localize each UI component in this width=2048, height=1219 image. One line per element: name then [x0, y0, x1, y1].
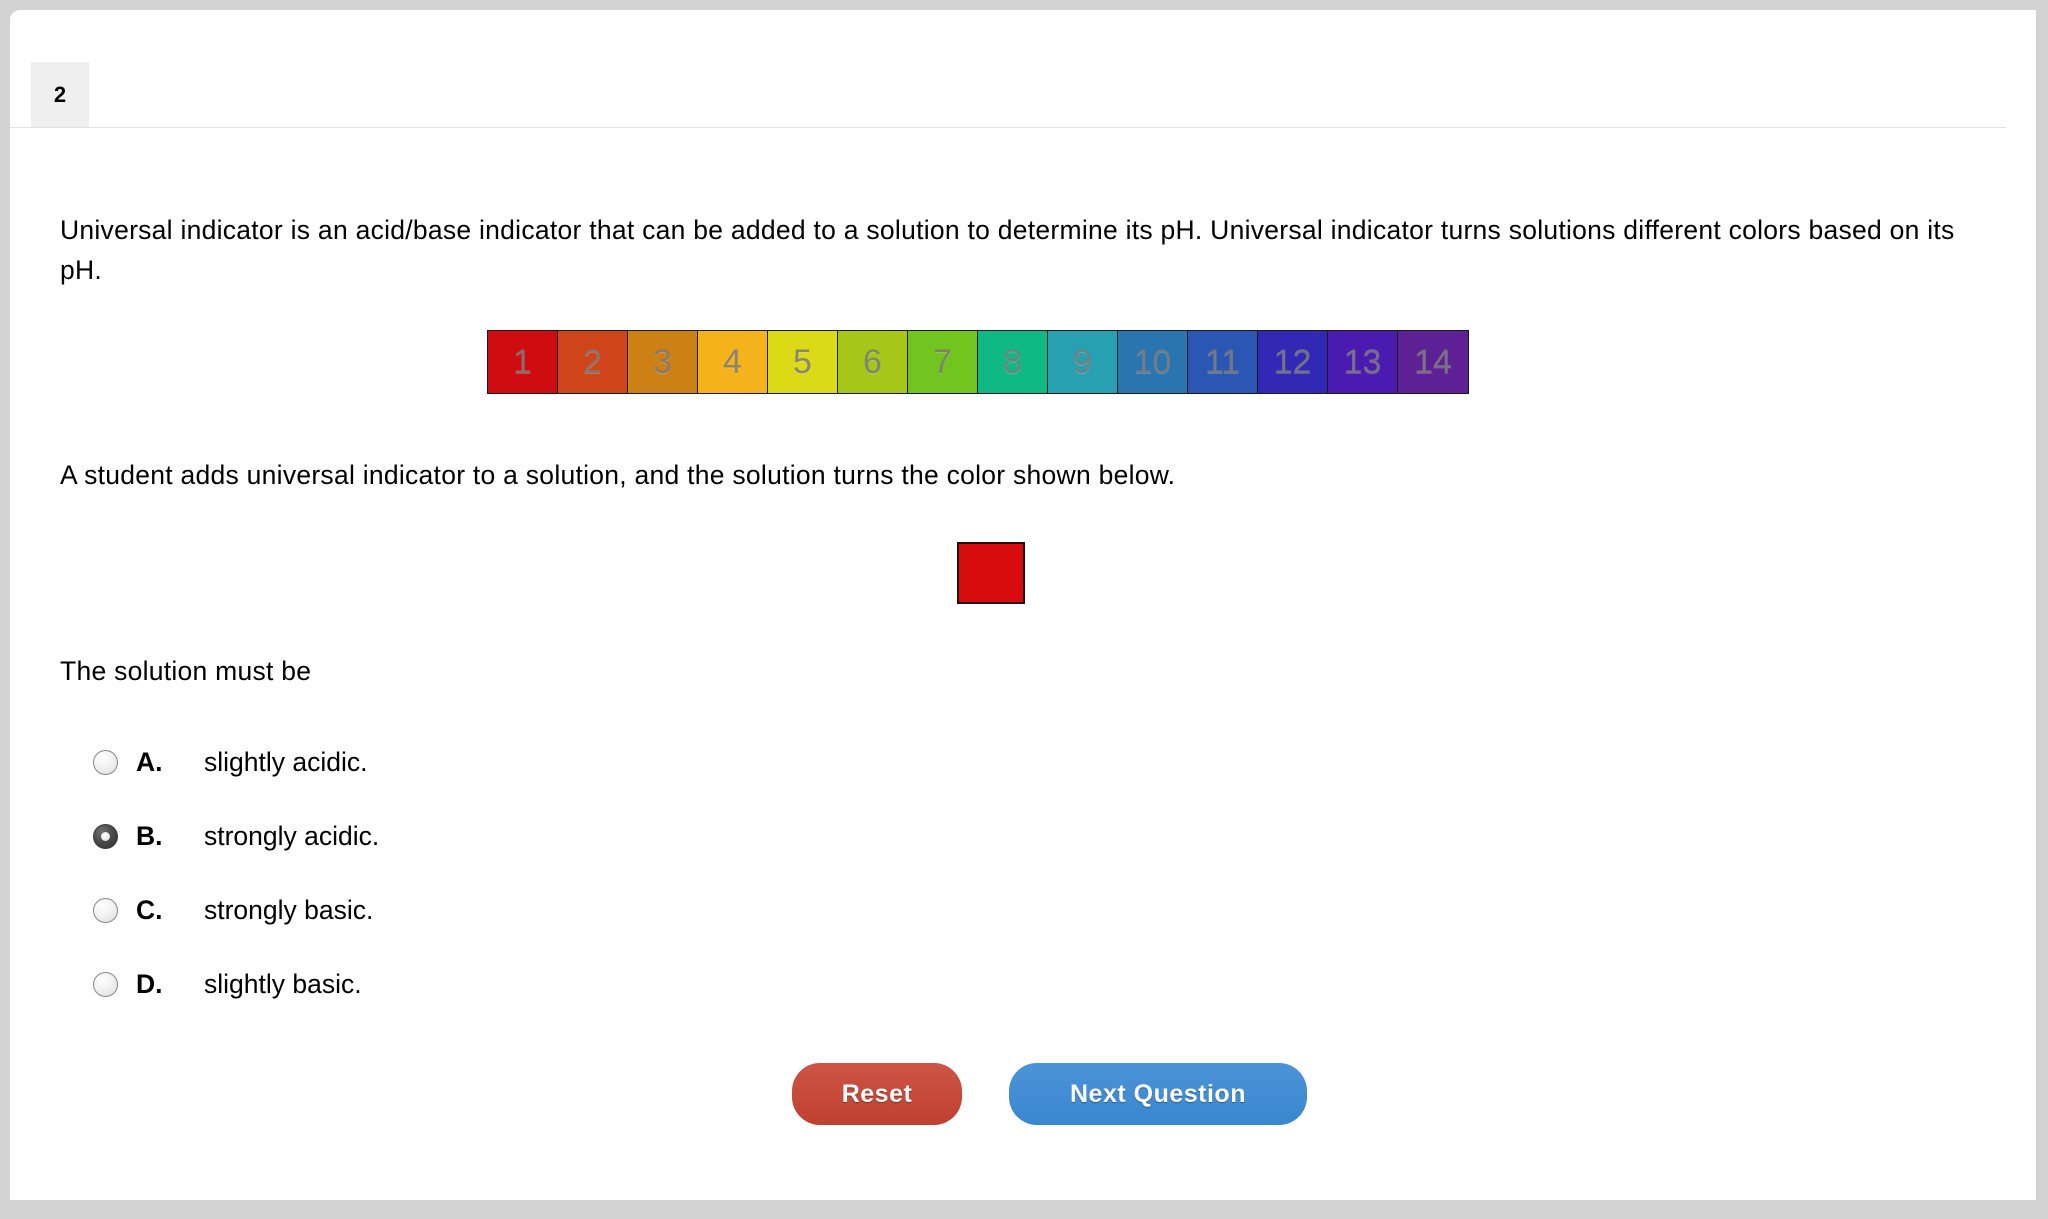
ph-cell-label: 1: [513, 343, 532, 382]
ph-cell-label: 10: [1134, 343, 1172, 382]
radio-button-icon[interactable]: [93, 824, 118, 849]
ph-cell-2: 2: [558, 331, 628, 393]
ph-cell-label: 9: [1073, 343, 1092, 382]
answer-option-c[interactable]: C.strongly basic.: [60, 873, 960, 947]
ph-cell-label: 13: [1344, 343, 1382, 382]
ph-cell-11: 11: [1188, 331, 1258, 393]
next-question-button[interactable]: Next Question: [1009, 1063, 1307, 1125]
tab-label: 2: [54, 82, 66, 108]
option-letter: D.: [136, 969, 170, 1000]
answer-option-a[interactable]: A.slightly acidic.: [60, 725, 960, 799]
ph-cell-14: 14: [1398, 331, 1468, 393]
ph-cell-13: 13: [1328, 331, 1398, 393]
solution-color-sample: [957, 542, 1025, 604]
radio-button-icon[interactable]: [93, 898, 118, 923]
ph-cell-8: 8: [978, 331, 1048, 393]
question-prompt: The solution must be: [60, 651, 1260, 691]
ph-cell-4: 4: [698, 331, 768, 393]
radio-button-icon[interactable]: [93, 972, 118, 997]
ph-cell-12: 12: [1258, 331, 1328, 393]
ph-cell-6: 6: [838, 331, 908, 393]
option-text: slightly basic.: [204, 969, 362, 1000]
ph-cell-label: 5: [793, 343, 812, 382]
ph-cell-label: 7: [933, 343, 952, 382]
ph-cell-1: 1: [488, 331, 558, 393]
ph-cell-9: 9: [1048, 331, 1118, 393]
action-button-bar: Reset Next Question: [792, 1063, 1307, 1125]
reset-button[interactable]: Reset: [792, 1063, 962, 1125]
option-text: strongly acidic.: [204, 821, 379, 852]
option-letter: C.: [136, 895, 170, 926]
question-intro-paragraph: Universal indicator is an acid/base indi…: [60, 210, 1960, 290]
ph-cell-label: 2: [583, 343, 602, 382]
ph-cell-7: 7: [908, 331, 978, 393]
ph-cell-3: 3: [628, 331, 698, 393]
question-scenario-paragraph: A student adds universal indicator to a …: [60, 455, 1860, 495]
option-letter: B.: [136, 821, 170, 852]
ph-cell-10: 10: [1118, 331, 1188, 393]
option-letter: A.: [136, 747, 170, 778]
ph-cell-label: 3: [653, 343, 672, 382]
ph-cell-label: 14: [1414, 343, 1452, 382]
answer-options-list: A.slightly acidic.B.strongly acidic.C.st…: [60, 725, 960, 1021]
ph-cell-label: 4: [723, 343, 742, 382]
ph-cell-label: 8: [1003, 343, 1022, 382]
answer-option-b[interactable]: B.strongly acidic.: [60, 799, 960, 873]
tab-strip: 2: [10, 62, 2006, 128]
option-text: strongly basic.: [204, 895, 373, 926]
ph-cell-label: 11: [1205, 343, 1240, 382]
question-card: 2 Universal indicator is an acid/base in…: [10, 10, 2036, 1200]
ph-cell-label: 12: [1274, 343, 1312, 382]
tab-question-2[interactable]: 2: [31, 62, 89, 127]
option-text: slightly acidic.: [204, 747, 367, 778]
radio-button-icon[interactable]: [93, 750, 118, 775]
ph-cell-label: 6: [863, 343, 882, 382]
ph-color-scale: 1234567891011121314: [487, 330, 1469, 394]
answer-option-d[interactable]: D.slightly basic.: [60, 947, 960, 1021]
ph-cell-5: 5: [768, 331, 838, 393]
